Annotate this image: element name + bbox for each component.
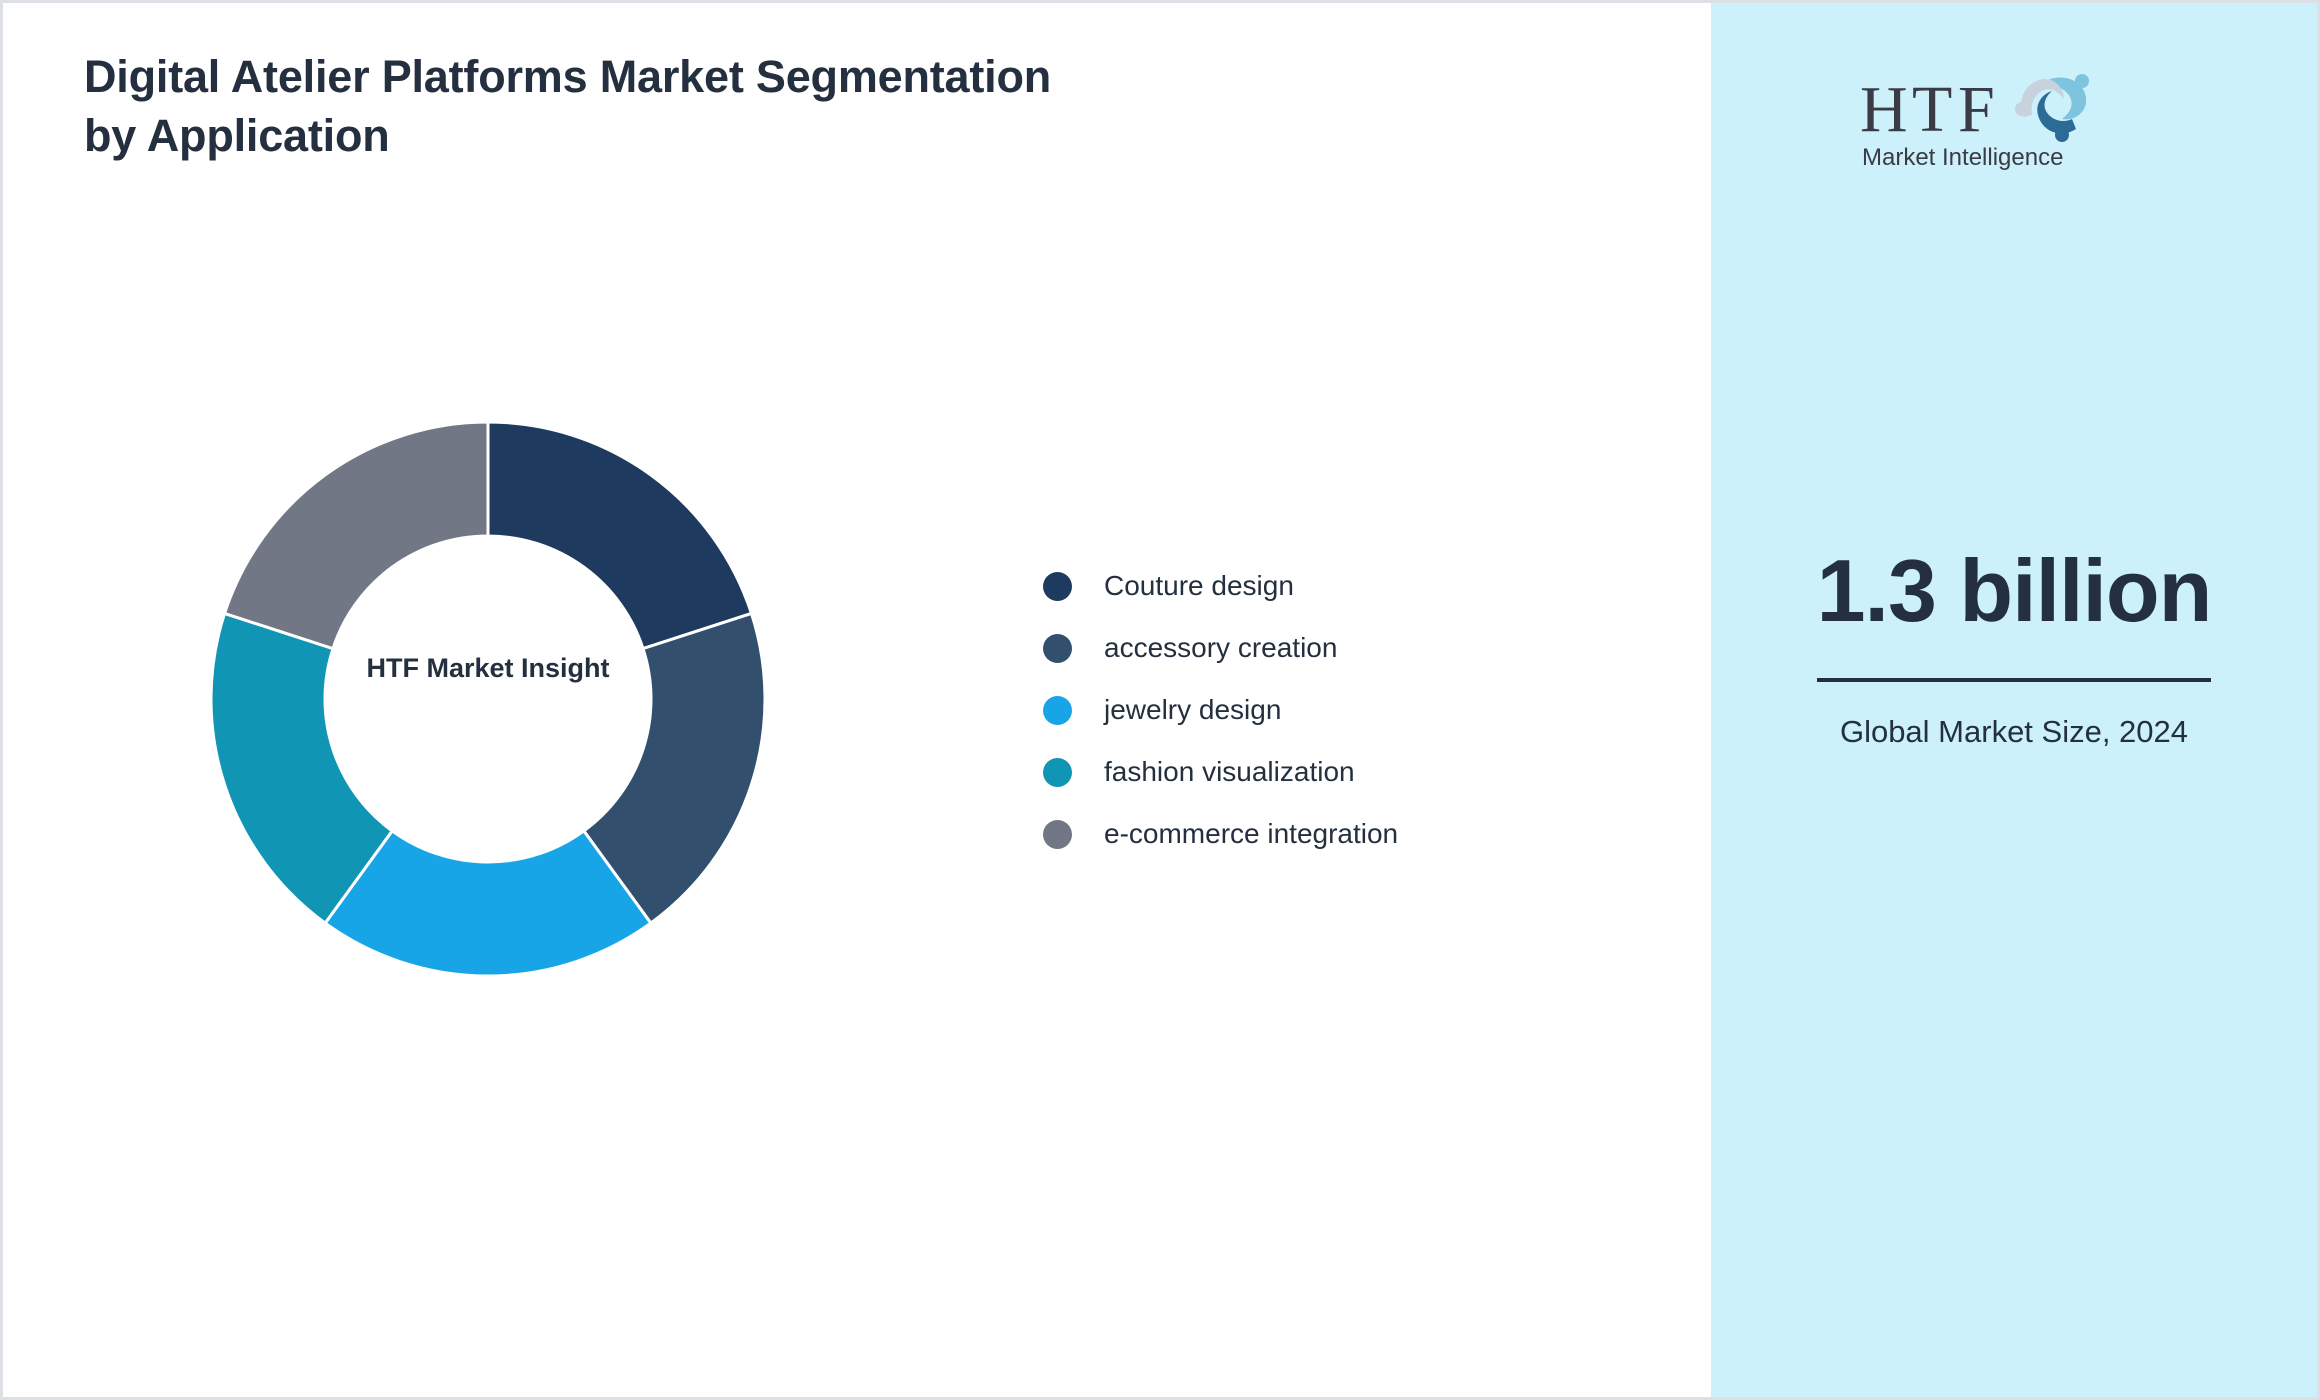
svg-text:H: H [1860,73,1909,146]
legend-item-label: jewelry design [1104,694,1281,726]
stat-value: 1.3 billion [1711,543,2317,638]
htf-logo: H T F Market Intelligence [1854,65,2174,175]
page-title: Digital Atelier Platforms Market Segment… [84,47,1084,166]
chart-legend: Couture designaccessory creationjewelry … [1043,555,1603,865]
logo-dot-top [2075,74,2089,88]
legend-swatch-icon [1043,634,1072,663]
svg-text:T: T [1912,73,1953,146]
legend-swatch-icon [1043,696,1072,725]
chart-panel: Digital Atelier Platforms Market Segment… [3,3,1711,1397]
legend-item-label: fashion visualization [1104,756,1355,788]
htf-triskelion-logo: H T F Market Intelligence [1854,65,2174,175]
legend-item[interactable]: Couture design [1043,555,1603,617]
logo-dot-right [2055,128,2069,142]
donut-slice[interactable] [488,422,751,649]
donut-chart-svg [208,419,768,979]
legend-item-label: e-commerce integration [1104,818,1398,850]
infographic-page: Digital Atelier Platforms Market Segment… [0,0,2320,1400]
legend-swatch-icon [1043,572,1072,601]
legend-swatch-icon [1043,820,1072,849]
svg-text:F: F [1958,73,1996,146]
legend-item[interactable]: jewelry design [1043,679,1603,741]
sidebar-panel: H T F Market Intelligence [1711,3,2317,1397]
legend-item[interactable]: fashion visualization [1043,741,1603,803]
legend-item-label: accessory creation [1104,632,1337,664]
legend-swatch-icon [1043,758,1072,787]
stat-block: 1.3 billion Global Market Size, 2024 [1711,543,2317,753]
legend-item-label: Couture design [1104,570,1294,602]
legend-item[interactable]: accessory creation [1043,617,1603,679]
stat-divider [1817,678,2211,682]
logo-dot-left [2015,102,2029,116]
donut-slice[interactable] [225,422,488,649]
legend-item[interactable]: e-commerce integration [1043,803,1603,865]
logo-tagline: Market Intelligence [1862,144,2063,171]
donut-chart: HTF Market Insight [208,419,768,979]
stat-caption: Global Market Size, 2024 [1711,712,2317,753]
